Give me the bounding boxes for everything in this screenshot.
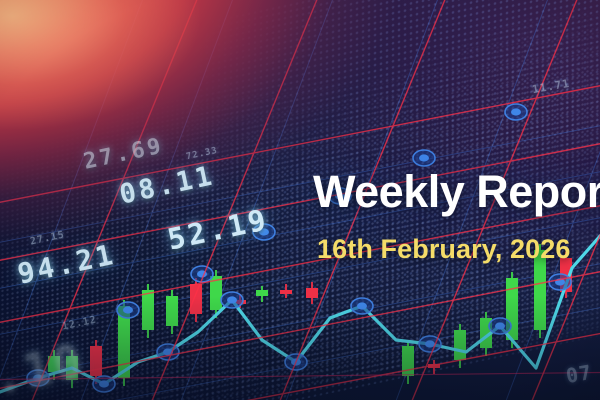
banner-date: 16th February, 2026 — [317, 236, 571, 263]
weekly-report-banner: 27.6908.1152.1994.21.10 27.1572.3312.120… — [0, 0, 600, 400]
banner-title: Weekly Report — [313, 169, 600, 214]
